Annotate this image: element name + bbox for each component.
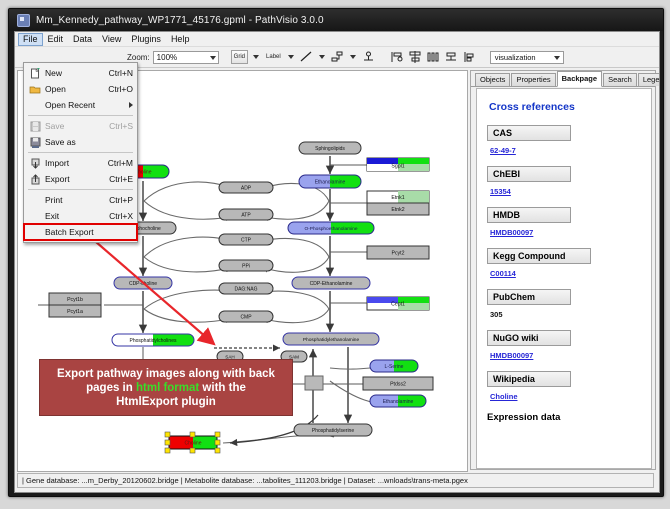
annotation-callout: Export pathway images along with back pa… bbox=[39, 359, 293, 416]
menu-item-open-recent-label: Open Recent bbox=[45, 100, 129, 110]
menu-item-save: Save Ctrl+S bbox=[24, 118, 137, 134]
file-menu-dropdown[interactable]: New Ctrl+N Open Ctrl+O Open Recent bbox=[23, 62, 138, 243]
tab-backpage[interactable]: Backpage bbox=[557, 71, 602, 87]
side-panel-tabs: Objects Properties Backpage Search Legen… bbox=[471, 71, 655, 87]
menu-item-import-label: Import bbox=[45, 158, 108, 168]
gene-box-pcyt2: Pcyt2 bbox=[367, 246, 429, 259]
svg-text:Phosphatidylserine: Phosphatidylserine bbox=[312, 428, 354, 434]
export-icon bbox=[28, 173, 42, 185]
menu-file[interactable]: File bbox=[18, 33, 43, 46]
xref-value-nugo[interactable]: HMDB00097 bbox=[490, 351, 641, 360]
svg-text:L-Serine: L-Serine bbox=[385, 364, 404, 370]
title-bar: Mm_Kennedy_pathway_WP1771_45176.gpml - P… bbox=[9, 9, 663, 31]
svg-text:Pcyt2: Pcyt2 bbox=[392, 251, 405, 257]
callout-highlight: html format bbox=[136, 382, 199, 394]
status-bar: | Gene database: ...m_Derby_20120602.bri… bbox=[17, 473, 654, 488]
menu-item-exit-accel: Ctrl+X bbox=[109, 211, 133, 221]
gene-box-etnk1: Etnk1 bbox=[367, 191, 429, 203]
svg-text:Pcyt1a: Pcyt1a bbox=[67, 309, 83, 315]
distribute-icon[interactable] bbox=[426, 50, 441, 64]
menu-item-exit[interactable]: Exit Ctrl+X bbox=[24, 208, 137, 224]
svg-text:Sphingolipids: Sphingolipids bbox=[315, 146, 345, 152]
svg-text:CDP-Ethanolamine: CDP-Ethanolamine bbox=[310, 281, 353, 287]
svg-text:DAG:NAG: DAG:NAG bbox=[234, 287, 257, 293]
screen-root: Mm_Kennedy_pathway_WP1771_45176.gpml - P… bbox=[0, 0, 670, 509]
node-ethanolamine-2: Ethanolamine bbox=[370, 395, 426, 407]
xref-label-kegg: Kegg Compound bbox=[487, 248, 591, 264]
menu-item-save-as[interactable]: Save as bbox=[24, 134, 137, 150]
expression-data-heading: Expression data bbox=[487, 412, 641, 423]
xref-label-cas: CAS bbox=[487, 125, 571, 141]
menu-item-new-accel: Ctrl+N bbox=[109, 68, 133, 78]
node-phosphatidylcholines: Phosphatidylcholines bbox=[112, 334, 194, 346]
xref-label-chebi: ChEBI bbox=[487, 166, 571, 182]
visualization-value: visualization bbox=[495, 53, 536, 62]
menu-item-save-accel: Ctrl+S bbox=[109, 121, 133, 131]
line-dropdown-icon[interactable] bbox=[319, 55, 325, 59]
chevron-down-icon bbox=[554, 56, 560, 60]
node-dagnag: DAG:NAG bbox=[219, 283, 273, 294]
svg-text:O-Phosphoethanolamine: O-Phosphoethanolamine bbox=[304, 226, 357, 232]
node-sphingolipids: Sphingolipids bbox=[299, 142, 361, 154]
node-phosphatidylserine: Phosphatidylserine bbox=[294, 424, 372, 436]
anchor-tool-icon[interactable] bbox=[361, 50, 376, 64]
save-disk-icon bbox=[28, 120, 42, 132]
gene-box-sgpl1: Sgpl1 bbox=[367, 158, 429, 171]
gene-box-etnk2: Etnk2 bbox=[367, 203, 429, 215]
node-atp: ATP bbox=[219, 209, 273, 220]
svg-text:Sgpl1: Sgpl1 bbox=[391, 164, 404, 170]
svg-text:Choline: Choline bbox=[185, 441, 202, 447]
interaction-tool-icon[interactable] bbox=[330, 50, 345, 64]
menu-edit[interactable]: Edit bbox=[43, 33, 69, 46]
menu-item-open-accel: Ctrl+O bbox=[108, 84, 133, 94]
menu-item-export-label: Export bbox=[45, 174, 109, 184]
menu-item-print-accel: Ctrl+P bbox=[109, 195, 133, 205]
menu-item-new[interactable]: New Ctrl+N bbox=[24, 65, 137, 81]
xref-value-chebi[interactable]: 15354 bbox=[490, 187, 641, 196]
pathvisio-icon bbox=[17, 14, 30, 27]
svg-text:ADP: ADP bbox=[241, 186, 252, 192]
import-icon bbox=[28, 157, 42, 169]
xref-label-hmdb: HMDB bbox=[487, 207, 571, 223]
backpage-content[interactable]: Cross references CAS 62-49-7 ChEBI 15354… bbox=[476, 88, 652, 469]
menu-item-export-accel: Ctrl+E bbox=[109, 174, 133, 184]
common-width-icon[interactable] bbox=[462, 50, 477, 64]
node-cdp-choline: CDP-choline bbox=[114, 277, 172, 289]
tab-properties[interactable]: Properties bbox=[511, 73, 555, 86]
window-title: Mm_Kennedy_pathway_WP1771_45176.gpml - P… bbox=[36, 15, 324, 26]
menu-view[interactable]: View bbox=[97, 33, 126, 46]
menu-item-save-label: Save bbox=[45, 121, 109, 131]
svg-text:Ethanolamine: Ethanolamine bbox=[383, 399, 414, 405]
gene-box-pcyt1a: Pcyt1a bbox=[49, 305, 101, 317]
tab-legend[interactable]: Legend bbox=[638, 73, 660, 86]
tab-objects[interactable]: Objects bbox=[475, 73, 510, 86]
menu-item-save-as-label: Save as bbox=[45, 137, 133, 147]
menu-item-print[interactable]: Print Ctrl+P bbox=[24, 192, 137, 208]
xref-value-hmdb[interactable]: HMDB00097 bbox=[490, 228, 641, 237]
node-cmp: CMP bbox=[219, 311, 273, 322]
xref-label-pubchem: PubChem bbox=[487, 289, 571, 305]
menu-plugins[interactable]: Plugins bbox=[126, 33, 166, 46]
zoom-label: Zoom: bbox=[127, 53, 150, 62]
menu-item-import-accel: Ctrl+M bbox=[108, 158, 133, 168]
node-cdp-ethanolamine: CDP-Ethanolamine bbox=[292, 277, 370, 289]
menu-item-print-label: Print bbox=[45, 195, 109, 205]
submenu-arrow-icon bbox=[129, 102, 133, 108]
label-dropdown-icon[interactable] bbox=[288, 55, 294, 59]
svg-text:Phosphatidylethanolamine: Phosphatidylethanolamine bbox=[303, 337, 360, 343]
menu-separator bbox=[28, 152, 133, 153]
menu-item-batch-export[interactable]: Batch Export bbox=[24, 224, 137, 240]
node-o-phosphoethanolamine: O-Phosphoethanolamine bbox=[288, 222, 374, 234]
stack-icon[interactable] bbox=[444, 50, 459, 64]
xref-value-cas[interactable]: 62-49-7 bbox=[490, 146, 641, 155]
xref-value-wikipedia[interactable]: Choline bbox=[490, 392, 641, 401]
gene-box-ptdss2: Ptdss2 bbox=[363, 377, 433, 390]
svg-text:Etnk1: Etnk1 bbox=[391, 195, 404, 201]
gene-box-cept1: Cept1 bbox=[367, 297, 429, 310]
node-choline-selected: Choline bbox=[165, 432, 220, 453]
align-center-icon[interactable] bbox=[408, 50, 423, 64]
svg-text:Ethanolamine: Ethanolamine bbox=[315, 180, 346, 186]
menu-separator bbox=[28, 189, 133, 190]
svg-text:Pcyt1b: Pcyt1b bbox=[67, 297, 83, 303]
menu-help[interactable]: Help bbox=[166, 33, 195, 46]
menu-item-open[interactable]: Open Ctrl+O bbox=[24, 81, 137, 97]
callout-line-2-pre: pages in bbox=[86, 382, 136, 394]
svg-text:CDP-choline: CDP-choline bbox=[129, 281, 157, 287]
menu-item-import[interactable]: Import Ctrl+M bbox=[24, 155, 137, 171]
label-button[interactable]: Label bbox=[264, 50, 283, 64]
node-ctp: CTP bbox=[219, 234, 273, 245]
node-ppi: PPi bbox=[219, 260, 273, 271]
callout-line-2-post: with the bbox=[199, 382, 246, 394]
node-ethanolamine: Ethanolamine bbox=[299, 175, 361, 188]
svg-text:Phosphatidylcholines: Phosphatidylcholines bbox=[130, 338, 177, 344]
callout-line-1: Export pathway images along with back bbox=[57, 367, 275, 381]
grid-dropdown-icon[interactable] bbox=[253, 55, 259, 59]
svg-text:ATP: ATP bbox=[241, 213, 251, 219]
grid-button[interactable]: Grid bbox=[231, 50, 248, 64]
menu-item-open-recent[interactable]: Open Recent bbox=[24, 97, 137, 113]
line-tool-icon[interactable] bbox=[299, 50, 314, 64]
status-text: | Gene database: ...m_Derby_20120602.bri… bbox=[22, 476, 468, 485]
node-l-serine: L-Serine bbox=[370, 360, 418, 372]
xref-value-pubchem: 305 bbox=[490, 310, 641, 319]
side-panel: Objects Properties Backpage Search Legen… bbox=[470, 70, 656, 470]
node-phosphatidylethanolamine: Phosphatidylethanolamine bbox=[283, 333, 379, 345]
application-window: Mm_Kennedy_pathway_WP1771_45176.gpml - P… bbox=[8, 8, 664, 497]
new-file-icon bbox=[28, 67, 42, 79]
svg-text:PPi: PPi bbox=[242, 264, 250, 270]
svg-text:Etnk2: Etnk2 bbox=[391, 207, 404, 213]
zoom-select[interactable]: 100% bbox=[153, 51, 219, 64]
svg-text:Ptdss2: Ptdss2 bbox=[390, 382, 406, 388]
menu-item-open-label: Open bbox=[45, 84, 108, 94]
svg-text:Cept1: Cept1 bbox=[391, 302, 405, 308]
menu-separator bbox=[28, 115, 133, 116]
svg-text:CMP: CMP bbox=[240, 315, 252, 321]
xref-label-wikipedia: Wikipedia bbox=[487, 371, 571, 387]
zoom-value: 100% bbox=[157, 53, 177, 62]
menu-data[interactable]: Data bbox=[68, 33, 97, 46]
menu-item-batch-export-label: Batch Export bbox=[45, 227, 133, 237]
callout-line-2: pages in html format with the bbox=[86, 381, 246, 395]
menu-item-new-label: New bbox=[45, 68, 109, 78]
client-area: File Edit Data View Plugins Help Zoom: 1… bbox=[14, 31, 660, 493]
menu-item-exit-label: Exit bbox=[45, 211, 109, 221]
callout-line-3: HtmlExport plugin bbox=[116, 395, 216, 409]
save-as-icon bbox=[28, 136, 42, 148]
chevron-down-icon bbox=[210, 56, 216, 60]
interaction-dropdown-icon[interactable] bbox=[350, 55, 356, 59]
open-folder-icon bbox=[28, 83, 42, 95]
menu-item-export[interactable]: Export Ctrl+E bbox=[24, 171, 137, 187]
svg-text:CTP: CTP bbox=[241, 238, 252, 244]
node-adp: ADP bbox=[219, 182, 273, 193]
menu-bar: File Edit Data View Plugins Help bbox=[15, 32, 659, 47]
xref-value-kegg[interactable]: C00114 bbox=[490, 269, 641, 278]
xref-label-nugo: NuGO wiki bbox=[487, 330, 571, 346]
gene-box-pcyt1b: Pcyt1b bbox=[49, 293, 101, 305]
visualization-select[interactable]: visualization bbox=[490, 51, 564, 64]
align-left-icon[interactable] bbox=[390, 50, 405, 64]
tab-search[interactable]: Search bbox=[603, 73, 637, 86]
cross-references-heading: Cross references bbox=[489, 101, 641, 113]
